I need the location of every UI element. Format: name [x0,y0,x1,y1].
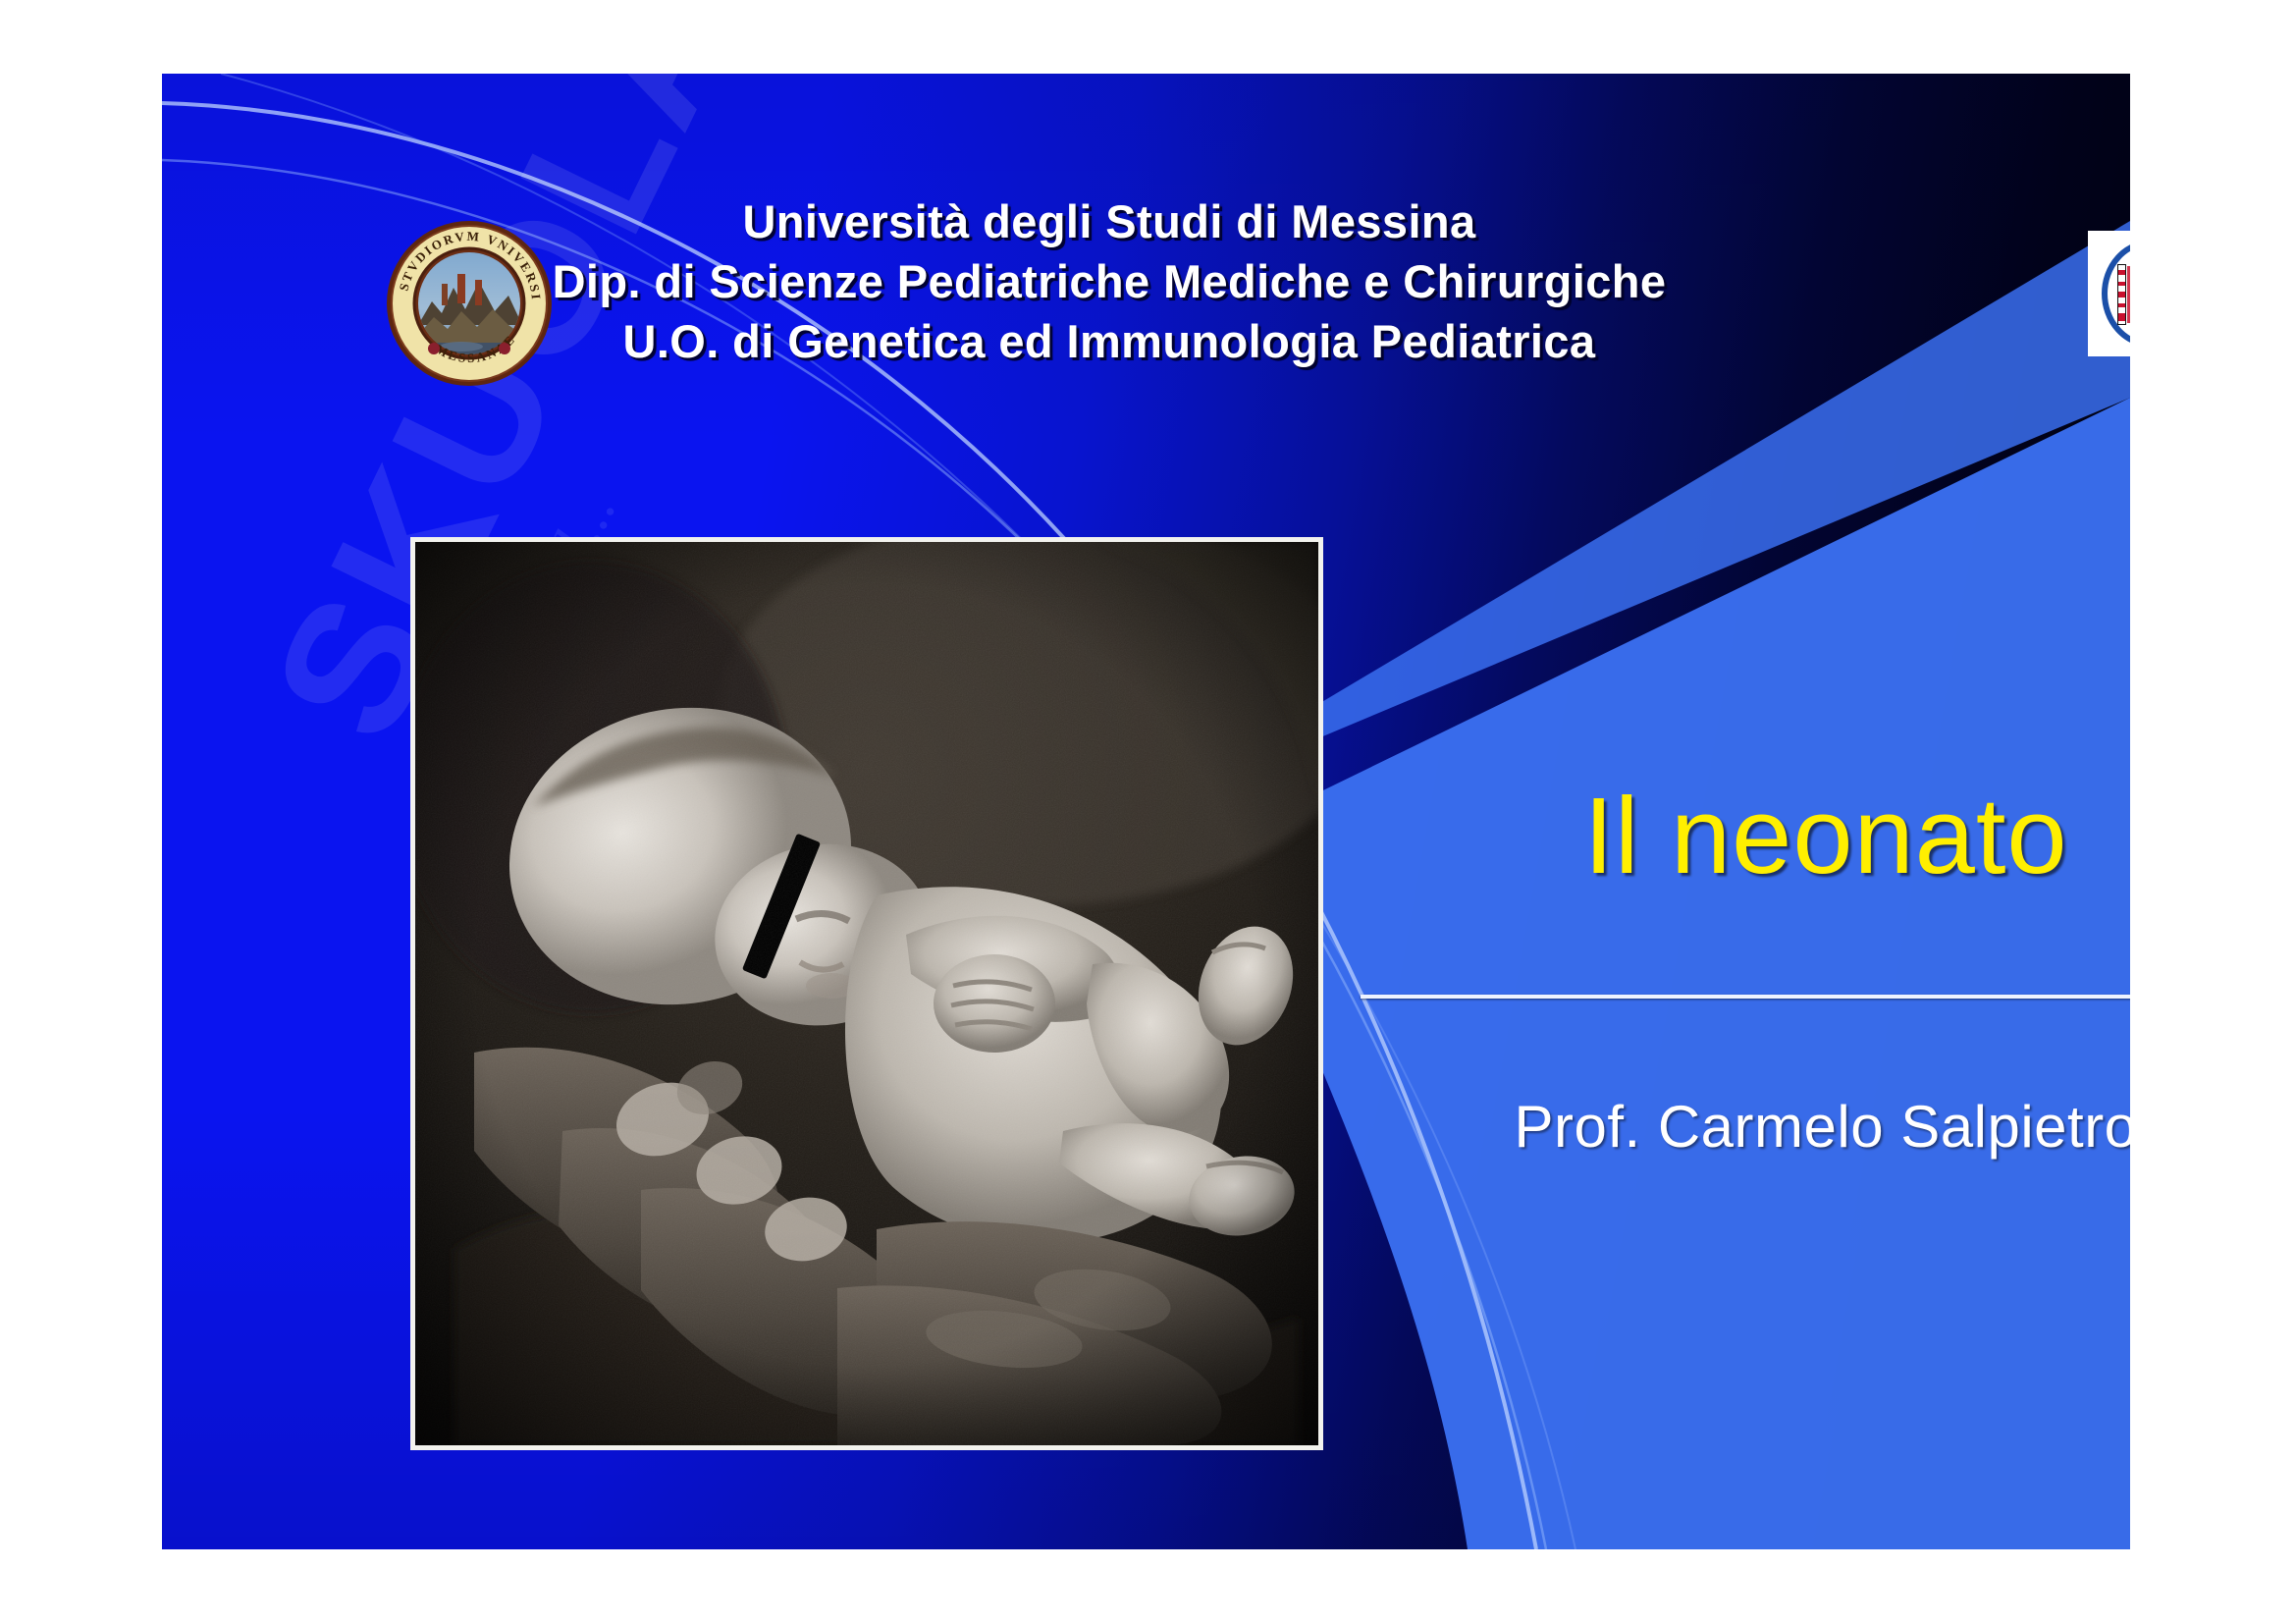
presentation-slide: SKUOLA studio del... [162,74,2130,1549]
page-canvas: SKUOLA studio del... [0,0,2296,1623]
header-text-block: Università degli Studi di Messina Dip. d… [456,191,1762,371]
title-divider-rule [1361,995,2130,999]
header-line-3: U.O. di Genetica ed Immunologia Pediatri… [456,311,1762,371]
newborn-photo [415,542,1318,1445]
newborn-photo-illustration [415,542,1318,1445]
genetics-immunology-logo-icon [2088,231,2130,356]
slide-author: Prof. Carmelo Salpietro [1369,1098,2130,1157]
genetics-immunology-logo [2088,231,2130,356]
slide-title: Il neonato [1369,783,2130,891]
university-of-messina-seal-icon: STVDIORVM VNIVERSITAS MESSANAE [385,219,554,388]
header-line-2: Dip. di Scienze Pediatriche Mediche e Ch… [456,251,1762,311]
header-line-1: Università degli Studi di Messina [456,191,1762,251]
newborn-photo-frame [410,537,1323,1450]
